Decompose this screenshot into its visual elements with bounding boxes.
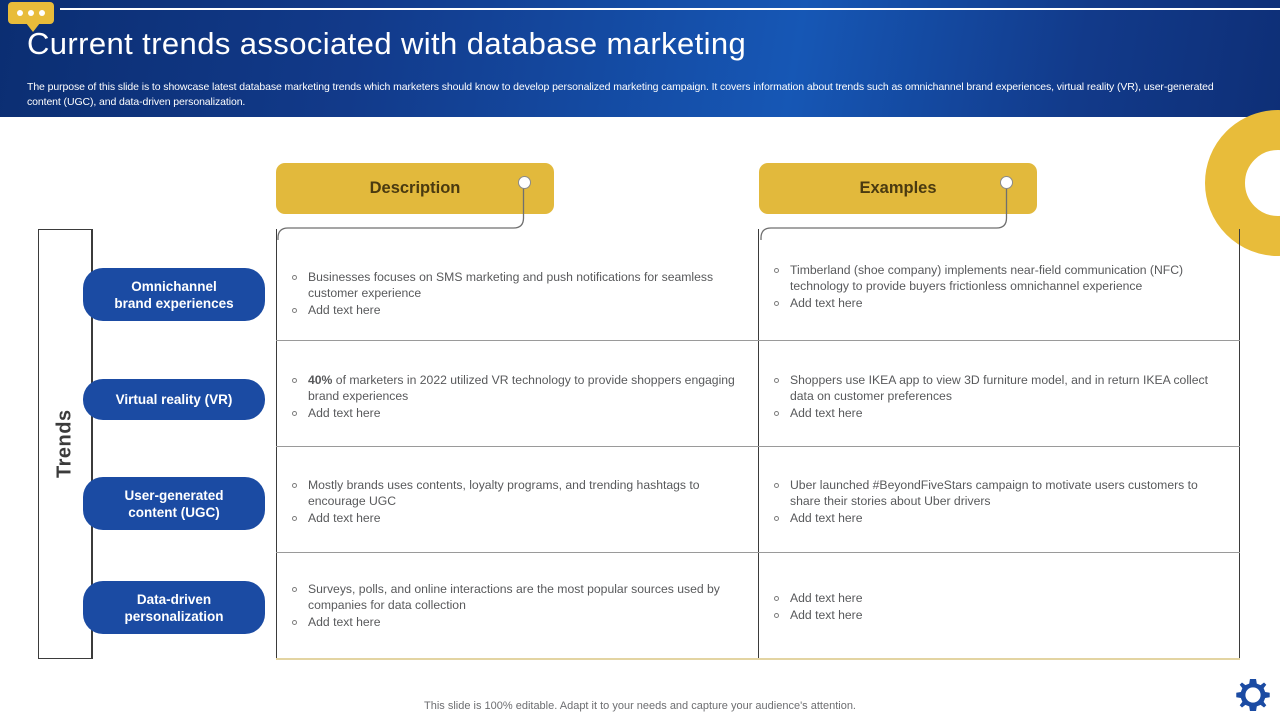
description-bullets: Surveys, polls, and online interactions … xyxy=(284,581,746,631)
list-item: Shoppers use IKEA app to view 3D furnitu… xyxy=(766,372,1228,404)
trends-table: Businesses focuses on SMS marketing and … xyxy=(276,229,1240,659)
page-subtitle: The purpose of this slide is to showcase… xyxy=(27,80,1237,110)
description-bullets: 40% of marketers in 2022 utilized VR tec… xyxy=(284,372,746,422)
table-row: Mostly brands uses contents, loyalty pro… xyxy=(284,477,746,528)
trend-pill-label: Virtual reality (VR) xyxy=(116,391,233,408)
table-left-border xyxy=(276,229,277,659)
table-row: Add text here Add text here xyxy=(766,590,1228,624)
column-header-label: Examples xyxy=(859,179,936,198)
table-bottom-border xyxy=(276,658,1240,660)
trend-pill-ugc[interactable]: User-generatedcontent (UGC) xyxy=(83,477,265,530)
list-item: Businesses focuses on SMS marketing and … xyxy=(284,269,746,301)
table-row: Businesses focuses on SMS marketing and … xyxy=(284,269,746,320)
description-bullets: Mostly brands uses contents, loyalty pro… xyxy=(284,477,746,527)
table-row: Shoppers use IKEA app to view 3D furnitu… xyxy=(766,372,1228,423)
table-row: 40% of marketers in 2022 utilized VR tec… xyxy=(284,372,746,423)
table-row-divider xyxy=(276,552,1240,553)
slide-header: Current trends associated with database … xyxy=(0,0,1280,117)
description-bullets: Businesses focuses on SMS marketing and … xyxy=(284,269,746,319)
trend-pill-data-driven[interactable]: Data-drivenpersonalization xyxy=(83,581,265,634)
list-item: Uber launched #BeyondFiveStars campaign … xyxy=(766,477,1228,509)
list-item: Add text here xyxy=(766,405,1228,421)
list-item: 40% of marketers in 2022 utilized VR tec… xyxy=(284,372,746,404)
footer-note: This slide is 100% editable. Adapt it to… xyxy=(0,700,1280,712)
column-header-description[interactable]: Description xyxy=(276,163,554,214)
list-item: Add text here xyxy=(766,590,1228,606)
speech-bubble-dots-icon xyxy=(8,2,54,24)
list-item: Add text here xyxy=(766,295,1228,311)
list-item: Add text here xyxy=(284,614,746,630)
list-item: Add text here xyxy=(284,405,746,421)
table-row-divider xyxy=(276,446,1240,447)
examples-bullets: Uber launched #BeyondFiveStars campaign … xyxy=(766,477,1228,527)
trend-pill-label: User-generatedcontent (UGC) xyxy=(124,487,223,521)
column-header-examples[interactable]: Examples xyxy=(759,163,1037,214)
table-row: Uber launched #BeyondFiveStars campaign … xyxy=(766,477,1228,528)
gear-icon[interactable] xyxy=(1234,676,1272,714)
list-item: Mostly brands uses contents, loyalty pro… xyxy=(284,477,746,509)
list-item: Add text here xyxy=(766,510,1228,526)
trend-pill-omnichannel[interactable]: Omnichannelbrand experiences xyxy=(83,268,265,321)
examples-bullets: Timberland (shoe company) implements nea… xyxy=(766,262,1228,312)
table-row: Surveys, polls, and online interactions … xyxy=(284,581,746,632)
examples-bullets: Add text here Add text here xyxy=(766,590,1228,623)
list-item: Timberland (shoe company) implements nea… xyxy=(766,262,1228,294)
table-right-border xyxy=(1239,229,1240,659)
table-row: Timberland (shoe company) implements nea… xyxy=(766,262,1228,313)
trend-pill-label: Omnichannelbrand experiences xyxy=(114,278,233,312)
header-rule xyxy=(60,8,1280,10)
list-item: Add text here xyxy=(766,607,1228,623)
connector-dot-icon-examples xyxy=(1000,176,1013,189)
trend-pill-label: Data-drivenpersonalization xyxy=(124,591,223,625)
column-header-label: Description xyxy=(370,179,461,198)
table-row-divider xyxy=(276,340,1240,341)
list-item: Add text here xyxy=(284,510,746,526)
list-item: Add text here xyxy=(284,302,746,318)
trend-pill-virtual-reality[interactable]: Virtual reality (VR) xyxy=(83,379,265,420)
examples-bullets: Shoppers use IKEA app to view 3D furnitu… xyxy=(766,372,1228,422)
table-column-divider xyxy=(758,229,759,659)
connector-dot-icon-description xyxy=(518,176,531,189)
list-item: Surveys, polls, and online interactions … xyxy=(284,581,746,613)
page-title: Current trends associated with database … xyxy=(27,26,746,62)
